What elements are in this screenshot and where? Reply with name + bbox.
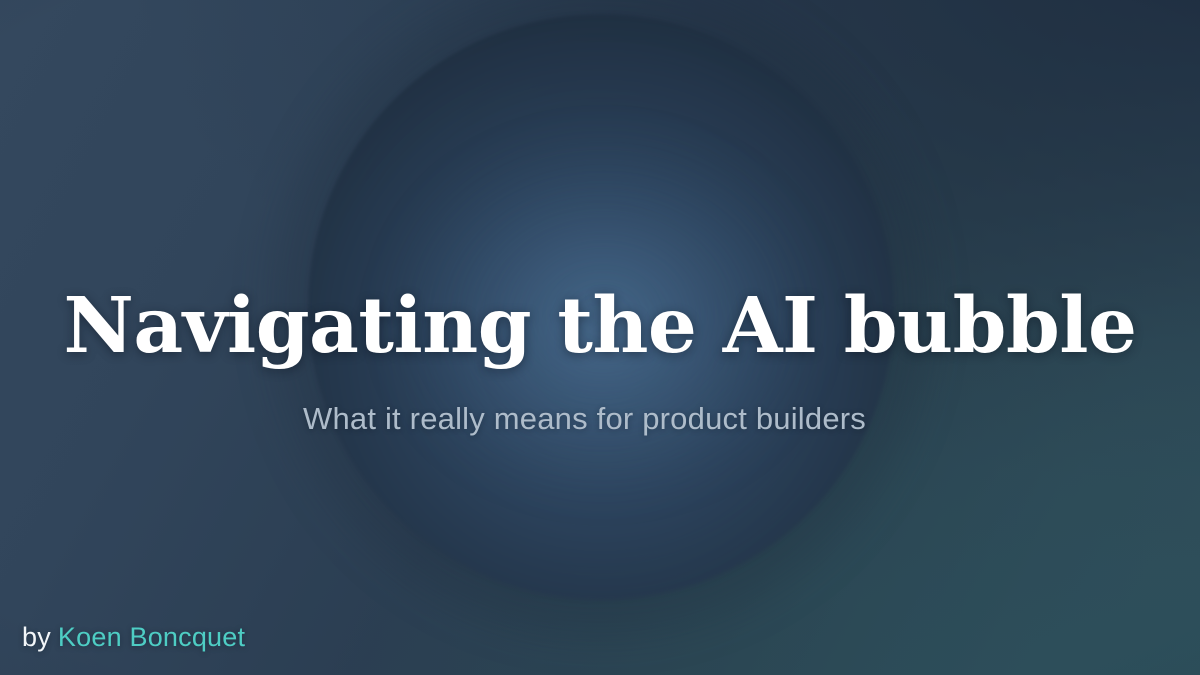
byline: byKoen Boncquet — [22, 622, 245, 653]
slide-title: Navigating the AI bubble — [0, 288, 1200, 365]
slide-subtitle: What it really means for product builder… — [303, 377, 923, 461]
byline-author: Koen Boncquet — [58, 622, 245, 652]
byline-prefix: by — [22, 622, 51, 652]
title-slide: Navigating the AI bubble What it really … — [0, 0, 1200, 675]
slide-content: Navigating the AI bubble What it really … — [0, 0, 1200, 675]
